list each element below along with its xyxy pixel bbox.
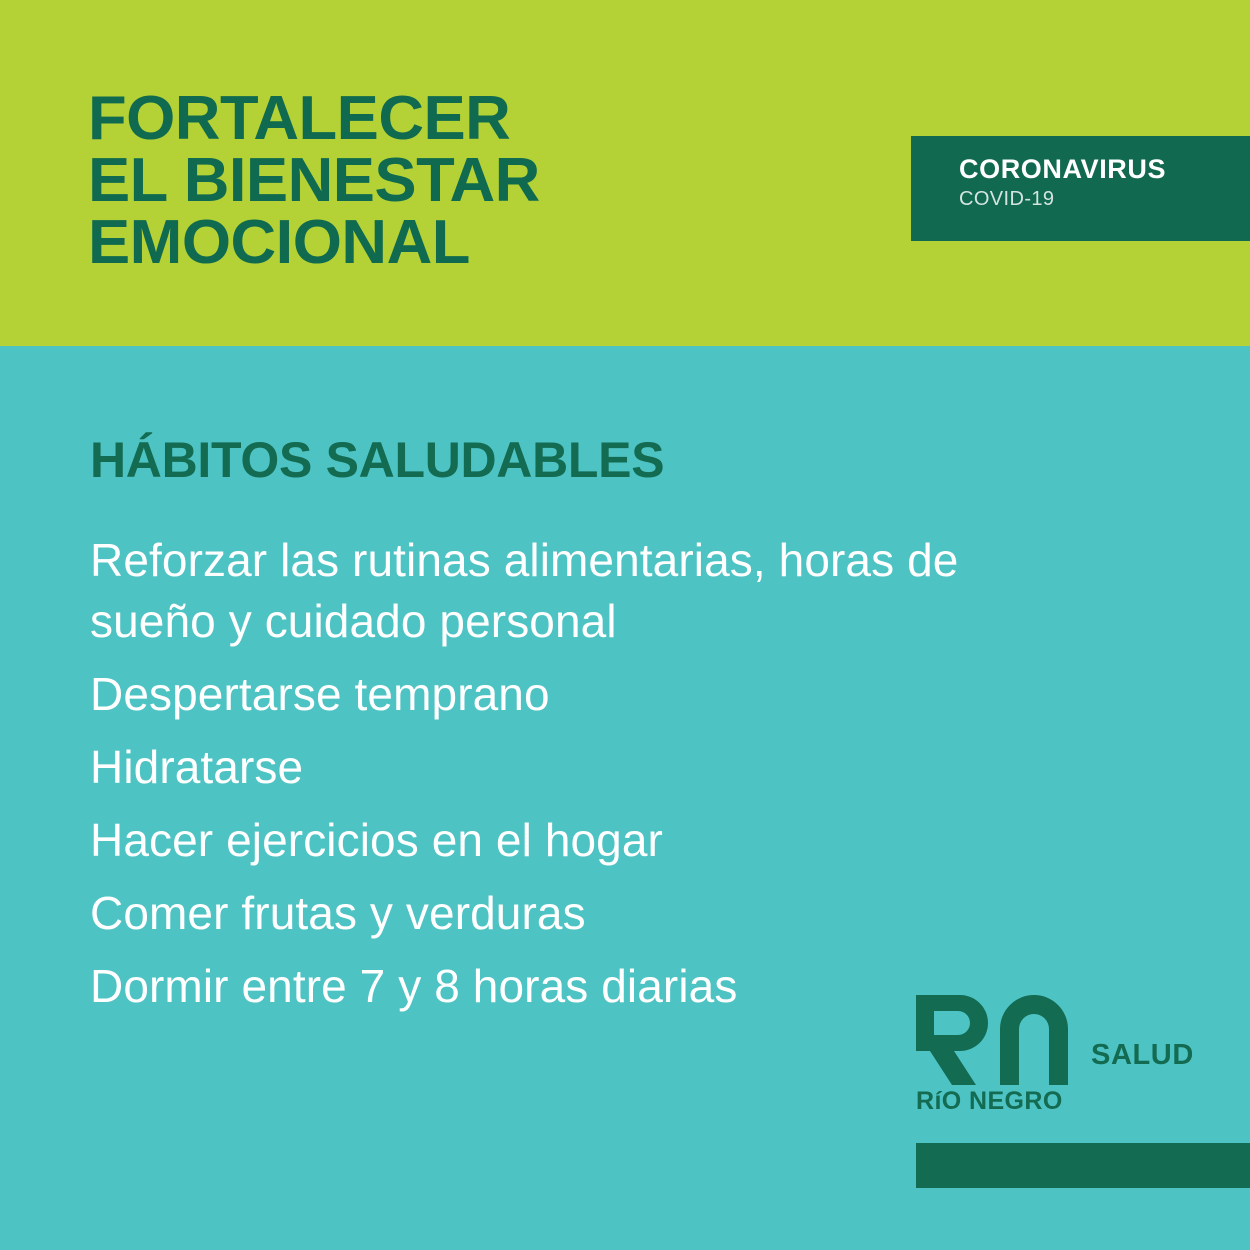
list-item: Comer frutas y verduras [90,883,1080,944]
list-item: Hacer ejercicios en el hogar [90,810,1080,871]
page-title: FORTALECER EL BIENESTAR EMOCIONAL [88,88,540,274]
coronavirus-badge: CORONAVIRUS COVID-19 [911,136,1250,241]
list-item: Despertarse temprano [90,664,1080,725]
footer-bar [916,1143,1250,1188]
salud-label: SALUD [1091,1039,1194,1071]
section-title: HÁBITOS SALUDABLES [90,432,664,488]
habits-list: Reforzar las rutinas alimentarias, horas… [90,530,1110,1017]
list-item: Hidratarse [90,737,1080,798]
rio-negro-wordmark-icon: RíO NEGRO [916,1085,1076,1115]
rn-monogram-icon [916,995,1076,1085]
svg-text:RíO NEGRO: RíO NEGRO [916,1087,1063,1115]
headline-line-1: FORTALECER [88,88,540,150]
poster-canvas: FORTALECER EL BIENESTAR EMOCIONAL CORONA… [0,0,1250,1250]
rio-negro-salud-logo: RíO NEGRO SALUD [916,995,1250,1195]
badge-title: CORONAVIRUS [959,154,1166,184]
badge-subtitle: COVID-19 [959,188,1054,210]
headline-line-2: EL BIENESTAR [88,150,540,212]
headline-line-3: EMOCIONAL [88,212,540,274]
list-item: Reforzar las rutinas alimentarias, horas… [90,530,1080,652]
